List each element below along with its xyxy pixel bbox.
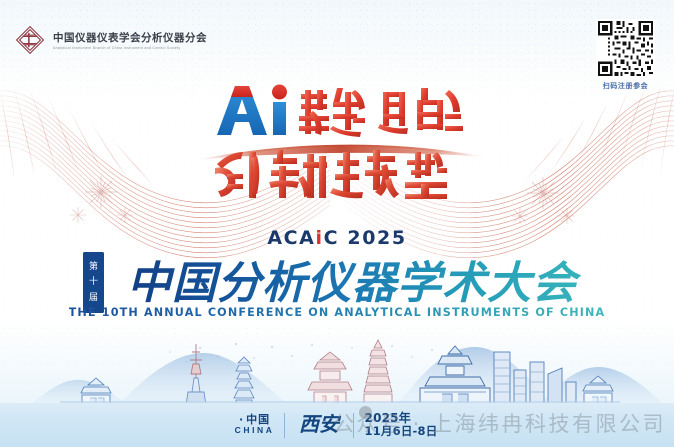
conference-title-en-wrap: THE 10TH ANNUAL CONFERENCE ON ANALYTICAL… xyxy=(0,307,674,318)
society-diamond-logo-icon xyxy=(14,24,46,56)
footer-city-calligraphy: 西安 xyxy=(295,408,343,438)
headline-cn-zhuan xyxy=(330,150,399,198)
headline-line-1 xyxy=(0,80,674,142)
headline-cn-xin xyxy=(269,150,327,198)
edition-char-1: 十 xyxy=(89,278,98,287)
footer-date: 2025年 11月6日-8日 xyxy=(354,411,449,439)
footer-date-year: 2025年 xyxy=(365,411,438,425)
confetti-dots xyxy=(169,343,453,363)
footer-city: 西安 xyxy=(285,408,353,443)
edition-char-2: 届 xyxy=(89,294,98,303)
qr-code-icon[interactable] xyxy=(596,19,655,78)
event-code-suffix: C xyxy=(324,227,340,249)
edition-char-0: 第 xyxy=(89,263,98,272)
event-code-i: i xyxy=(315,227,323,249)
headline-cn-xing xyxy=(405,152,447,199)
conference-title-en: THE 10TH ANNUAL CONFERENCE ON ANALYTICAL… xyxy=(69,306,606,319)
society-name-en: Analytical Instrument Branch of China In… xyxy=(53,46,207,50)
mountain-range xyxy=(30,347,664,405)
decorative-waves-layer xyxy=(0,0,674,447)
modern-towers xyxy=(494,352,576,405)
headline-letter-i xyxy=(272,85,287,136)
edition-badge: 第 十 届 xyxy=(83,252,104,313)
bell-tower-landmark xyxy=(420,346,490,405)
footer-country: 中国 CHINA xyxy=(226,414,284,436)
footer-country-en: CHINA xyxy=(235,426,275,436)
headline-cn-chuang xyxy=(215,152,259,198)
event-code: ACAiC 2025 xyxy=(0,229,674,248)
society-name-cn: 中国仪器仪表学会分析仪器分会 xyxy=(53,30,207,45)
conference-title-text: 中国分析仪器学术大会 xyxy=(127,258,582,309)
headline-cn-fu xyxy=(299,88,365,137)
giant-wild-goose-pagoda xyxy=(364,340,392,405)
footer-city-cn: 西安 xyxy=(299,412,342,436)
event-year: 2025 xyxy=(347,227,406,249)
headline-line-2 xyxy=(0,144,674,206)
right-temple xyxy=(583,376,613,405)
pagoda-small xyxy=(234,357,254,405)
event-code-prefix: ACA xyxy=(267,227,315,249)
conference-title-row: 第 十 届 中国分析仪器学术大会 xyxy=(0,252,674,313)
conference-poster: 中国仪器仪表学会分析仪器分会 Analytical Instrument Bra… xyxy=(0,0,674,447)
footer-date-range: 11月6日-8日 xyxy=(365,425,438,439)
headline-letter-A xyxy=(217,86,267,135)
xian-skyline-silhouette xyxy=(0,0,674,447)
society-logo: 中国仪器仪表学会分析仪器分会 Analytical Instrument Bra… xyxy=(14,24,207,56)
headline-block xyxy=(0,80,674,206)
background-dot-texture xyxy=(0,0,674,447)
conference-title-cn: 中国分析仪器学术大会 xyxy=(113,255,591,311)
headline-cn-neng xyxy=(378,88,463,134)
footer-info-row: 中国 CHINA 西安 2025年 11月6日-8日 xyxy=(0,403,674,447)
drum-tower-landmark xyxy=(308,352,352,405)
tv-tower-landmark xyxy=(186,344,206,405)
left-temple xyxy=(81,378,111,405)
